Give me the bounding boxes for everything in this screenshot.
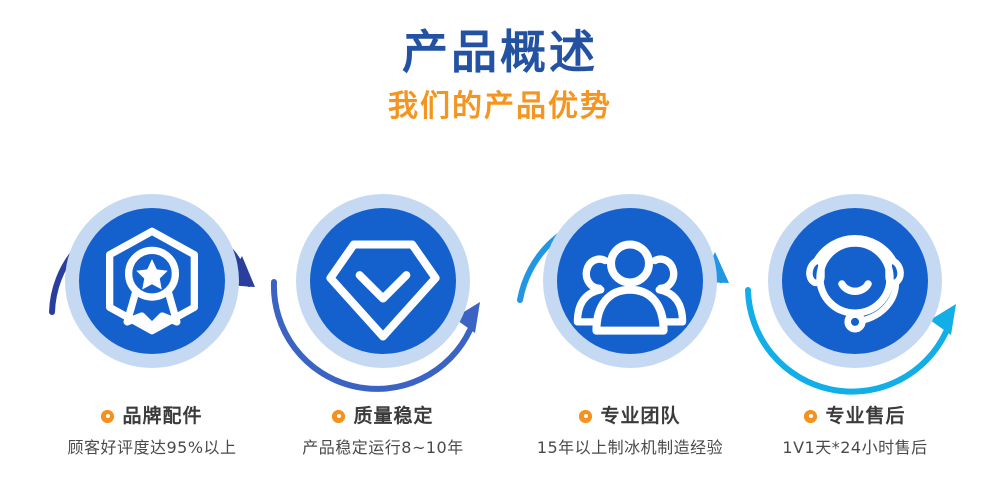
feature-caption: 质量稳定 产品稳定运行8~10年 bbox=[258, 404, 508, 458]
bullet-dot-icon bbox=[101, 410, 114, 423]
feature-title-row: 专业售后 bbox=[730, 404, 980, 428]
shield-badge-star-icon bbox=[79, 208, 225, 354]
feature-description: 15年以上制冰机制造经验 bbox=[505, 438, 755, 458]
feature-item-professional-team[interactable]: 专业团队 15年以上制冰机制造经验 bbox=[505, 172, 755, 482]
headset-support-icon bbox=[782, 208, 928, 354]
team-people-icon bbox=[557, 208, 703, 354]
diamond-check-icon bbox=[310, 208, 456, 354]
feature-icon-circle bbox=[505, 172, 755, 400]
bullet-dot-icon bbox=[804, 410, 817, 423]
feature-description: 产品稳定运行8~10年 bbox=[258, 438, 508, 458]
feature-description: 顾客好评度达95%以上 bbox=[27, 438, 277, 458]
feature-title-row: 质量稳定 bbox=[258, 404, 508, 428]
feature-title-row: 专业团队 bbox=[505, 404, 755, 428]
feature-title: 品牌配件 bbox=[122, 405, 202, 427]
page-title: 产品概述 bbox=[0, 0, 1000, 78]
feature-title: 专业售后 bbox=[825, 405, 905, 427]
feature-title: 专业团队 bbox=[600, 405, 680, 427]
product-overview-banner: 产品概述 我们的产品优势 bbox=[0, 0, 1000, 495]
feature-item-after-sales[interactable]: 专业售后 1V1天*24小时售后 bbox=[730, 172, 980, 482]
feature-list: 品牌配件 顾客好评度达95%以上 bbox=[0, 172, 1000, 482]
feature-icon-circle bbox=[27, 172, 277, 400]
feature-icon-circle bbox=[730, 172, 980, 400]
feature-title-row: 品牌配件 bbox=[27, 404, 277, 428]
feature-item-stable-quality[interactable]: 质量稳定 产品稳定运行8~10年 bbox=[258, 172, 508, 482]
feature-item-brand-parts[interactable]: 品牌配件 顾客好评度达95%以上 bbox=[27, 172, 277, 482]
header: 产品概述 我们的产品优势 bbox=[0, 0, 1000, 124]
feature-icon-circle bbox=[258, 172, 508, 400]
bullet-dot-icon bbox=[579, 410, 592, 423]
feature-caption: 专业售后 1V1天*24小时售后 bbox=[730, 404, 980, 458]
feature-caption: 专业团队 15年以上制冰机制造经验 bbox=[505, 404, 755, 458]
page-subtitle: 我们的产品优势 bbox=[0, 78, 1000, 124]
bullet-dot-icon bbox=[332, 410, 345, 423]
feature-title: 质量稳定 bbox=[353, 405, 433, 427]
feature-caption: 品牌配件 顾客好评度达95%以上 bbox=[27, 404, 277, 458]
feature-description: 1V1天*24小时售后 bbox=[730, 438, 980, 458]
